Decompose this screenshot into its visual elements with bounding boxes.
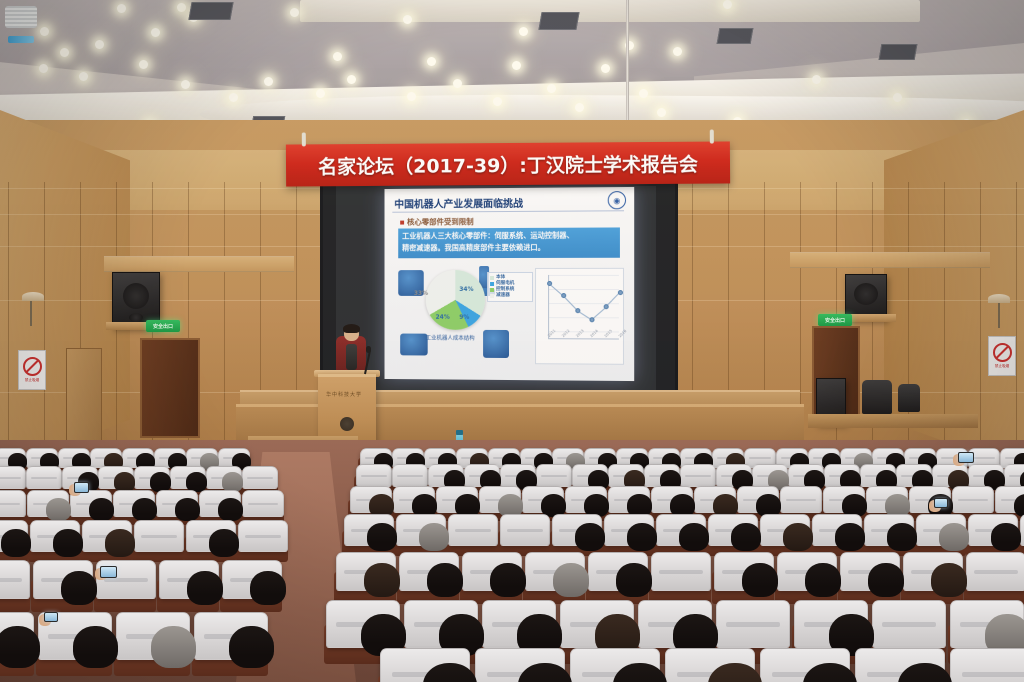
wall-band-right xyxy=(790,252,990,268)
audience-head xyxy=(1,529,31,557)
audience-head xyxy=(175,498,200,521)
audience-head xyxy=(186,472,207,491)
ceiling-light-8 xyxy=(519,27,528,36)
audience-head xyxy=(0,626,40,668)
pie-chart: 34% 9% 24% 33% xyxy=(422,270,491,332)
ceiling-vent-2 xyxy=(538,12,579,30)
seat-cover xyxy=(716,600,790,648)
no-smoking-sign-left: 禁止吸烟 xyxy=(18,350,46,390)
audience-head xyxy=(991,523,1021,551)
audience-head xyxy=(53,529,83,557)
presenter-hair xyxy=(343,324,360,333)
right-wall-sconce xyxy=(988,294,1010,303)
slide-highlight-box: 工业机器人三大核心零部件：伺服系统、运动控制器、 精密减速器。我国高精度部件主要… xyxy=(398,227,620,258)
seat-cover xyxy=(952,486,994,513)
presentation-slide: 中国机器人产业发展面临挑战 ◉ 核心零部件受到限制 工业机器人三大核心零部件：伺… xyxy=(385,187,635,381)
audience-head xyxy=(105,529,135,557)
seat-cover xyxy=(950,648,1024,682)
wall-panel-line-28 xyxy=(1016,182,1017,450)
audience-head xyxy=(150,472,171,491)
legend-item-3: 减速器 xyxy=(490,293,530,299)
speaker-cone-icon xyxy=(123,283,149,309)
seat-cover xyxy=(680,464,716,487)
seat-cover xyxy=(536,464,572,487)
seat-cover xyxy=(356,464,392,487)
presenter-shirt xyxy=(346,344,357,370)
pie-chart-caption: 工业机器人成本结构 xyxy=(426,334,475,342)
line-chart-xtick-5: 2016 xyxy=(618,329,627,338)
line-chart-point-3 xyxy=(589,317,594,322)
audience-head xyxy=(627,523,657,551)
ceiling-vent-3 xyxy=(717,28,754,44)
pie-label-2: 24% xyxy=(436,314,450,321)
ceiling-light-28 xyxy=(347,75,356,84)
audience-head xyxy=(367,523,397,551)
audience-head xyxy=(229,626,274,668)
audience-head xyxy=(783,523,813,551)
left-sconce-arm xyxy=(30,300,32,326)
audience-head xyxy=(114,472,135,491)
seat-cover xyxy=(26,466,62,489)
ceiling-light-41 xyxy=(673,47,682,56)
ceiling-vent-1 xyxy=(188,2,233,20)
highlight-line-2: 精密减速器。我国高精度部件主要依赖进口。 xyxy=(402,242,616,255)
audience-head xyxy=(61,571,97,605)
ceiling-light-32 xyxy=(40,27,49,36)
slide-title-rule xyxy=(392,210,624,212)
right-sconce-arm xyxy=(998,302,1000,328)
audience-head xyxy=(887,523,917,551)
audience-head xyxy=(490,563,526,597)
audience-head xyxy=(427,563,463,597)
slide-logo-icon: ◉ xyxy=(608,191,626,209)
pie-label-0: 34% xyxy=(459,286,473,293)
left-wall-sconce xyxy=(22,292,44,301)
audience-head xyxy=(553,563,589,597)
seat-cover xyxy=(651,552,711,591)
audience-head xyxy=(419,523,449,551)
pie-chart-legend: 本体 伺服电机 控制系统 减速器 xyxy=(487,272,533,302)
stage-side-table xyxy=(808,414,978,428)
seat-cover xyxy=(242,466,278,489)
smartphone-screen xyxy=(100,566,117,578)
seat-cover xyxy=(134,520,184,552)
audience-head xyxy=(132,498,157,521)
stage-chair-2 xyxy=(898,384,920,412)
water-bottle-cap xyxy=(456,430,463,435)
audience-head xyxy=(679,523,709,551)
event-banner: 名家论坛（2017-39）:丁汉院士学术报告会 xyxy=(286,141,730,186)
ceiling-light-16 xyxy=(407,92,416,101)
wall-panel-line-6 xyxy=(224,182,225,450)
wall-panel-line-0 xyxy=(8,182,9,450)
line-chart: 201120122013201420152016 xyxy=(535,268,624,365)
audience-head xyxy=(616,563,652,597)
slide-title: 中国机器人产业发展面临挑战 xyxy=(394,195,523,211)
ceiling-light-0 xyxy=(60,48,69,57)
no-smoking-icon xyxy=(23,357,42,376)
ceiling-light-26 xyxy=(79,72,88,81)
speaker-cone-icon-right xyxy=(854,283,878,305)
seat-cover xyxy=(0,560,30,599)
pie-label-3: 33% xyxy=(414,290,428,297)
ceiling-light-2 xyxy=(139,60,148,69)
seat-cover xyxy=(872,600,946,648)
right-exit-sign: 安全出口 xyxy=(818,314,852,326)
wall-panel-line-1 xyxy=(44,182,45,450)
audience-head xyxy=(731,523,761,551)
left-wall xyxy=(0,110,130,470)
wall-panel-line-27 xyxy=(980,182,981,450)
line-chart-point-2 xyxy=(575,308,580,313)
audience-head xyxy=(931,563,967,597)
ceiling-light-25 xyxy=(39,64,48,73)
servo-motor-icon xyxy=(400,334,428,356)
ceiling-light-6 xyxy=(290,8,299,17)
seat-cover xyxy=(448,514,498,546)
audience-head xyxy=(222,472,243,491)
smartphone-screen xyxy=(958,452,974,463)
ac-vent-grille xyxy=(5,6,37,28)
banner-text: 名家论坛（2017-39）:丁汉院士学术报告会 xyxy=(318,149,698,179)
audience-head xyxy=(209,529,239,557)
ceiling-light-18 xyxy=(575,103,584,112)
seat-cover xyxy=(500,514,550,546)
seat-cover xyxy=(238,520,288,552)
stage-chair-1 xyxy=(862,380,892,414)
ceiling-light-30 xyxy=(547,84,556,93)
pie-chart-disc xyxy=(426,270,485,330)
slide-bullet: 核心零部件受到限制 xyxy=(400,216,473,227)
no-smoking-sign-right: 禁止吸烟 xyxy=(988,336,1016,376)
smartphone-screen xyxy=(74,482,89,493)
slide-bullet-label: 核心零部件受到限制 xyxy=(407,216,474,227)
ceiling-light-7 xyxy=(403,15,412,24)
highlight-line-1: 工业机器人三大核心零部件：伺服系统、运动控制器、 xyxy=(402,229,616,242)
line-chart-point-0 xyxy=(547,281,552,286)
seat-cover xyxy=(966,552,1024,591)
left-door xyxy=(140,338,200,438)
audience-head xyxy=(46,498,71,521)
seat-cover xyxy=(242,490,284,517)
audience-head xyxy=(151,626,196,668)
audience-head xyxy=(742,563,778,597)
ceiling-beam-rear xyxy=(300,0,920,22)
seat-cover xyxy=(780,486,822,513)
reducer-stack-icon xyxy=(483,330,509,358)
seat-cover xyxy=(0,490,26,517)
speaker-tweeter-icon xyxy=(129,313,143,322)
audience-head xyxy=(805,563,841,597)
microphone-head-icon xyxy=(366,346,371,353)
ceiling-light-3 xyxy=(177,3,186,12)
smartphone-screen xyxy=(44,612,58,622)
left-exit-sign: 安全出口 xyxy=(146,320,180,332)
audience-head xyxy=(187,571,223,605)
seat-cover xyxy=(0,466,26,489)
pie-label-1: 9% xyxy=(459,314,469,321)
audience-head xyxy=(218,498,243,521)
smartphone-screen xyxy=(934,498,948,508)
podium-label: 华中科技大学 xyxy=(326,391,362,398)
audience-head xyxy=(89,498,114,521)
ceiling-vent-4 xyxy=(879,44,918,60)
ac-brand-badge xyxy=(8,36,34,43)
audience-head xyxy=(868,563,904,597)
audience-head xyxy=(73,626,118,668)
audience-head xyxy=(575,523,605,551)
bullet-marker-icon xyxy=(400,220,404,224)
line-chart-point-5 xyxy=(618,290,623,295)
podium-emblem-icon xyxy=(340,417,354,431)
audience-head xyxy=(250,571,286,605)
wall-band-left xyxy=(104,256,294,272)
left-doorway-recess xyxy=(66,348,102,442)
auditorium-photo: 中国机器人产业发展面临挑战 ◉ 核心零部件受到限制 工业机器人三大核心零部件：伺… xyxy=(0,0,1024,682)
ceiling-light-1 xyxy=(117,4,126,13)
ceiling-light-31 xyxy=(639,89,648,98)
seat-cover xyxy=(392,464,428,487)
no-smoking-icon-right xyxy=(993,343,1012,362)
ceiling-light-11 xyxy=(812,75,821,84)
ceiling-light-33 xyxy=(151,28,160,37)
wall-panel-line-26 xyxy=(944,182,945,450)
audience-head xyxy=(939,523,969,551)
ceiling-light-44 xyxy=(427,57,436,66)
audience-head xyxy=(835,523,865,551)
audience-head xyxy=(364,563,400,597)
ceiling-light-29 xyxy=(453,79,462,88)
